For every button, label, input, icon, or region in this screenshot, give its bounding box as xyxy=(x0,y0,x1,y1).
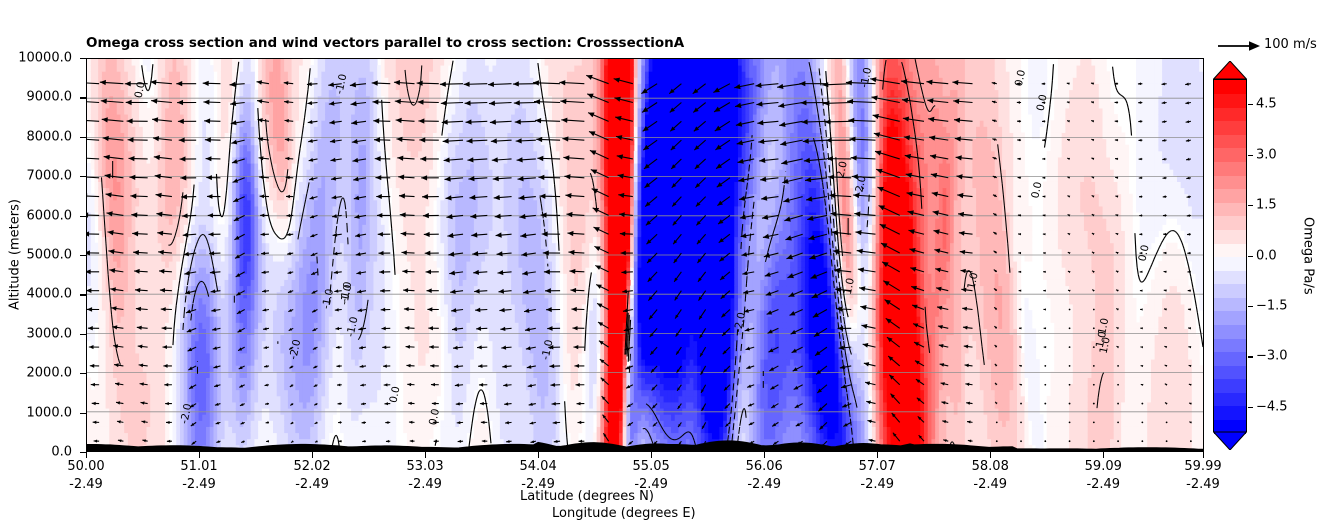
x-axis-tick-label-secondary: -2.49 xyxy=(408,477,442,492)
colorbar-segment xyxy=(1214,121,1246,135)
x-axis-tick-label: 53.03 xyxy=(406,459,443,474)
colorbar-tick-label: −1.5 xyxy=(1256,298,1288,313)
colorbar-segment xyxy=(1214,94,1246,108)
colorbar-gradient xyxy=(1213,79,1247,432)
colorbar-segment xyxy=(1214,352,1246,366)
colorbar-segment xyxy=(1214,161,1246,175)
x-axis-tick-label-secondary: -2.49 xyxy=(1086,477,1120,492)
right-arrow-icon xyxy=(1216,36,1262,56)
colorbar-segment xyxy=(1214,189,1246,203)
colorbar-segment xyxy=(1214,175,1246,189)
x-axis-tick-mark xyxy=(990,452,991,458)
colorbar-title: Omega Pa/s xyxy=(1300,61,1316,450)
colorbar-segment xyxy=(1214,406,1246,420)
colorbar-segment xyxy=(1214,270,1246,284)
x-axis-tick-mark xyxy=(764,452,765,458)
x-axis-tick-label: 59.99 xyxy=(1184,459,1221,474)
colorbar-tick-mark xyxy=(1248,407,1253,408)
x-axis-tick-mark xyxy=(877,452,878,458)
x-axis-title-secondary: Longitude (degrees E) xyxy=(552,506,696,521)
x-axis-tick-label-secondary: -2.49 xyxy=(973,477,1007,492)
colorbar-segment xyxy=(1214,297,1246,311)
colorbar-segment xyxy=(1214,216,1246,230)
colorbar-extend-max-arrow xyxy=(1213,61,1247,80)
colorbar-tick-mark xyxy=(1248,256,1253,257)
x-axis-tick-label: 54.04 xyxy=(520,459,557,474)
colorbar-segment xyxy=(1214,148,1246,162)
colorbar-tick-mark xyxy=(1248,306,1253,307)
x-axis-tick-mark xyxy=(1203,452,1204,458)
x-axis-tick-mark xyxy=(425,452,426,458)
colorbar-segment xyxy=(1214,379,1246,393)
colorbar-segment xyxy=(1214,243,1246,257)
colorbar[interactable]: −4.5−3.0−1.50.01.53.04.5 xyxy=(1213,61,1247,450)
x-axis-tick-label: 58.08 xyxy=(972,459,1009,474)
colorbar-tick-mark xyxy=(1248,104,1253,105)
colorbar-tick-label: 1.5 xyxy=(1256,198,1277,213)
colorbar-segment xyxy=(1214,311,1246,325)
x-axis-tick-mark xyxy=(538,452,539,458)
y-axis-tick-label: 10000.0 xyxy=(18,51,72,66)
x-axis-tick-mark xyxy=(312,452,313,458)
wind-vector-key: 100 m/s xyxy=(1216,36,1320,56)
colorbar-tick-mark xyxy=(1248,356,1253,357)
y-axis-tick-label: 8000.0 xyxy=(27,129,73,144)
x-axis-tick-mark xyxy=(199,452,200,458)
x-axis-tick-label-secondary: -2.49 xyxy=(69,477,103,492)
wind-key-label: 100 m/s xyxy=(1264,37,1317,52)
y-axis-tick-label: 6000.0 xyxy=(27,208,73,223)
colorbar-segment xyxy=(1214,324,1246,338)
x-axis-tick-label-secondary: -2.49 xyxy=(747,477,781,492)
colorbar-segment xyxy=(1214,392,1246,406)
colorbar-extend-min-arrow xyxy=(1213,431,1247,450)
x-axis-tick-label: 51.01 xyxy=(180,459,217,474)
colorbar-tick-label: 4.5 xyxy=(1256,97,1277,112)
y-axis-tick-label: 9000.0 xyxy=(27,90,73,105)
colorbar-tick-label: −3.0 xyxy=(1256,349,1288,364)
x-axis-tick-label-secondary: -2.49 xyxy=(182,477,216,492)
y-axis-tick-label: 0.0 xyxy=(51,445,72,460)
colorbar-segment xyxy=(1214,229,1246,243)
colorbar-segment xyxy=(1214,365,1246,379)
colorbar-tick-label: −4.5 xyxy=(1256,399,1288,414)
colorbar-tick-label: 3.0 xyxy=(1256,147,1277,162)
x-axis-tick-label: 55.05 xyxy=(633,459,670,474)
x-axis-tick-mark xyxy=(86,452,87,458)
x-axis-tick-label-secondary: -2.49 xyxy=(860,477,894,492)
x-axis-tick-label-secondary: -2.49 xyxy=(1186,477,1220,492)
title-line-1: Omega cross section and wind vectors par… xyxy=(86,36,1206,52)
colorbar-segment xyxy=(1214,338,1246,352)
x-axis-tick-mark xyxy=(651,452,652,458)
omega-cross-section: 1.0-2.00.01.0-1.0-1.01.00.01.0-1.02.0-2.… xyxy=(87,59,1203,451)
colorbar-segment xyxy=(1214,284,1246,298)
y-axis-tick-label: 1000.0 xyxy=(27,405,73,420)
colorbar-segment xyxy=(1214,107,1246,121)
y-axis-tick-label: 5000.0 xyxy=(27,248,73,263)
x-axis-tick-label-secondary: -2.49 xyxy=(295,477,329,492)
y-axis-tick-label: 2000.0 xyxy=(27,366,73,381)
y-axis-labels: 0.01000.02000.03000.04000.05000.06000.07… xyxy=(0,58,80,452)
x-axis-tick-label: 57.07 xyxy=(859,459,896,474)
colorbar-tick-mark xyxy=(1248,155,1253,156)
x-axis-tick-label: 52.02 xyxy=(293,459,330,474)
x-axis-tick-label: 56.06 xyxy=(746,459,783,474)
y-axis-tick-label: 4000.0 xyxy=(27,287,73,302)
x-axis-title: Latitude (degrees N) xyxy=(520,489,654,504)
colorbar-segment xyxy=(1214,202,1246,216)
colorbar-segment xyxy=(1214,134,1246,148)
y-axis-tick-label: 7000.0 xyxy=(27,169,73,184)
colorbar-tick-label: 0.0 xyxy=(1256,248,1277,263)
colorbar-segment xyxy=(1214,80,1246,94)
plot-area[interactable]: 1.0-2.00.01.0-1.0-1.01.00.01.0-1.02.0-2.… xyxy=(86,58,1204,452)
colorbar-segment xyxy=(1214,257,1246,271)
chart-page: Omega cross section and wind vectors par… xyxy=(0,0,1320,526)
x-axis-tick-mark xyxy=(1103,452,1104,458)
y-axis-tick-label: 3000.0 xyxy=(27,326,73,341)
x-axis-tick-label: 59.09 xyxy=(1085,459,1122,474)
x-axis-tick-label: 50.00 xyxy=(67,459,104,474)
colorbar-tick-mark xyxy=(1248,205,1253,206)
